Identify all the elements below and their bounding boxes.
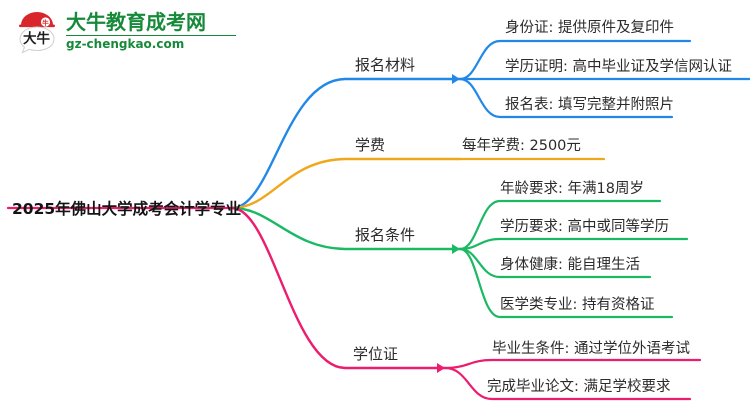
branch-arrow-1: [452, 74, 460, 84]
branch-label-xueweizheng[interactable]: 学位证: [353, 343, 398, 364]
branch-arrow-3: [452, 244, 460, 254]
leaf-label-baomingbiao[interactable]: 报名表: 填写完整并附照片: [505, 93, 674, 114]
leaf-label-shentijiankang[interactable]: 身体健康: 能自理生活: [500, 253, 640, 274]
leaf-line-3-2: [460, 239, 687, 249]
branch-line-3: [232, 208, 460, 249]
mindmap-canvas: 大牛 牛 大牛教育成考网 gz-chengkao.com: [0, 0, 750, 410]
branch-label-baomingtiaojian[interactable]: 报名条件: [355, 224, 415, 245]
leaf-label-wanchengbiyelunwen[interactable]: 完成毕业论文: 满足学校要求: [487, 375, 671, 396]
leaf-label-biyeshengtiaojian[interactable]: 毕业生条件: 通过学位外语考试: [492, 337, 690, 358]
root-node-label[interactable]: 2025年佛山大学成考会计学专业: [12, 197, 241, 219]
leaf-label-xueliyaoqiu[interactable]: 学历要求: 高中或同等学历: [500, 215, 669, 236]
leaf-label-nianlingyaoqiu[interactable]: 年龄要求: 年满18周岁: [500, 177, 644, 198]
branch-line-2: [232, 159, 460, 208]
branch-label-xuefei[interactable]: 学费: [355, 134, 385, 155]
branch-arrow-4: [437, 363, 445, 373]
branch-line-1: [232, 79, 460, 208]
leaf-label-yixueleizhuanye[interactable]: 医学类专业: 持有资格证: [500, 293, 655, 314]
leaf-label-meinianxuefei[interactable]: 每年学费: 2500元: [462, 134, 581, 155]
branch-label-baomingcailiao[interactable]: 报名材料: [355, 54, 415, 75]
leaf-line-4-1: [445, 360, 700, 368]
leaf-label-xuelizhengming[interactable]: 学历证明: 高中毕业证及学信网认证: [505, 55, 732, 76]
leaf-label-shenfenzheng[interactable]: 身份证: 提供原件及复印件: [505, 16, 674, 37]
